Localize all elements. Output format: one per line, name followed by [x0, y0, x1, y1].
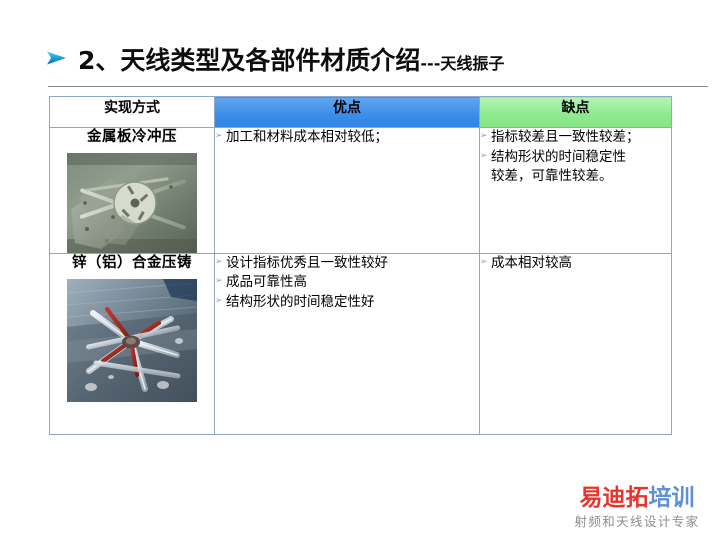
disadvantages-cell-2: 成本相对较高	[480, 253, 672, 434]
advantages-cell-1: 加工和材料成本相对较低；	[215, 128, 480, 254]
disadvantages-cell-1: 指标较差且一致性较差； 结构形状的时间稳定性 较差，可靠性较差。	[480, 128, 672, 254]
logo-word-red: 易迪拓	[580, 485, 649, 511]
brand-logo: 易迪拓培训 射频和天线设计专家	[562, 486, 712, 530]
table-row: 金属板冷冲压	[50, 128, 672, 254]
bullet-item: 加工和材料成本相对较低；	[215, 128, 479, 147]
header-cell-disadvantages: 缺点	[480, 97, 672, 128]
bullet-item: 设计指标优秀且一致性较好	[215, 254, 479, 273]
advantages-cell-2: 设计指标优秀且一致性较好 成品可靠性高 结构形状的时间稳定性好	[215, 253, 480, 434]
title-main-text: 2、天线类型及各部件材质介绍	[78, 48, 420, 73]
bullet-item: 指标较差且一致性较差；	[480, 128, 671, 147]
title-divider	[48, 86, 708, 87]
bullet-item: 成品可靠性高	[215, 273, 479, 292]
logo-word-blue: 培训	[649, 485, 695, 511]
comparison-table: 实现方式 优点 缺点 金属板冷冲压	[49, 96, 672, 435]
bullet-item: 结构形状的时间稳定性好	[215, 293, 479, 312]
die-cast-alloy-dipole-photo	[67, 279, 197, 402]
table-header-row: 实现方式 优点 缺点	[50, 97, 672, 128]
stamped-metal-dipole-photo	[67, 153, 197, 253]
header-cell-advantages: 优点	[215, 97, 480, 128]
header-cell-method: 实现方式	[50, 97, 215, 128]
table-row: 锌（铝）合金压铸	[50, 253, 672, 434]
bullet-item: 成本相对较高	[480, 254, 671, 273]
title-sub-text: ---天线振子	[420, 56, 504, 72]
bullet-item: 结构形状的时间稳定性	[480, 148, 671, 167]
method-label-1: 金属板冷冲压	[50, 128, 214, 147]
method-label-2: 锌（铝）合金压铸	[50, 254, 214, 273]
method-cell-1: 金属板冷冲压	[50, 128, 215, 254]
method-cell-2: 锌（铝）合金压铸	[50, 253, 215, 434]
logo-tagline: 射频和天线设计专家	[562, 511, 712, 530]
bullet-item-continuation: 较差，可靠性较差。	[480, 167, 671, 186]
page-title: 2、天线类型及各部件材质介绍 ---天线振子	[46, 48, 686, 84]
logo-wordmark: 易迪拓培训	[562, 486, 712, 510]
triangle-right-icon	[46, 50, 68, 66]
